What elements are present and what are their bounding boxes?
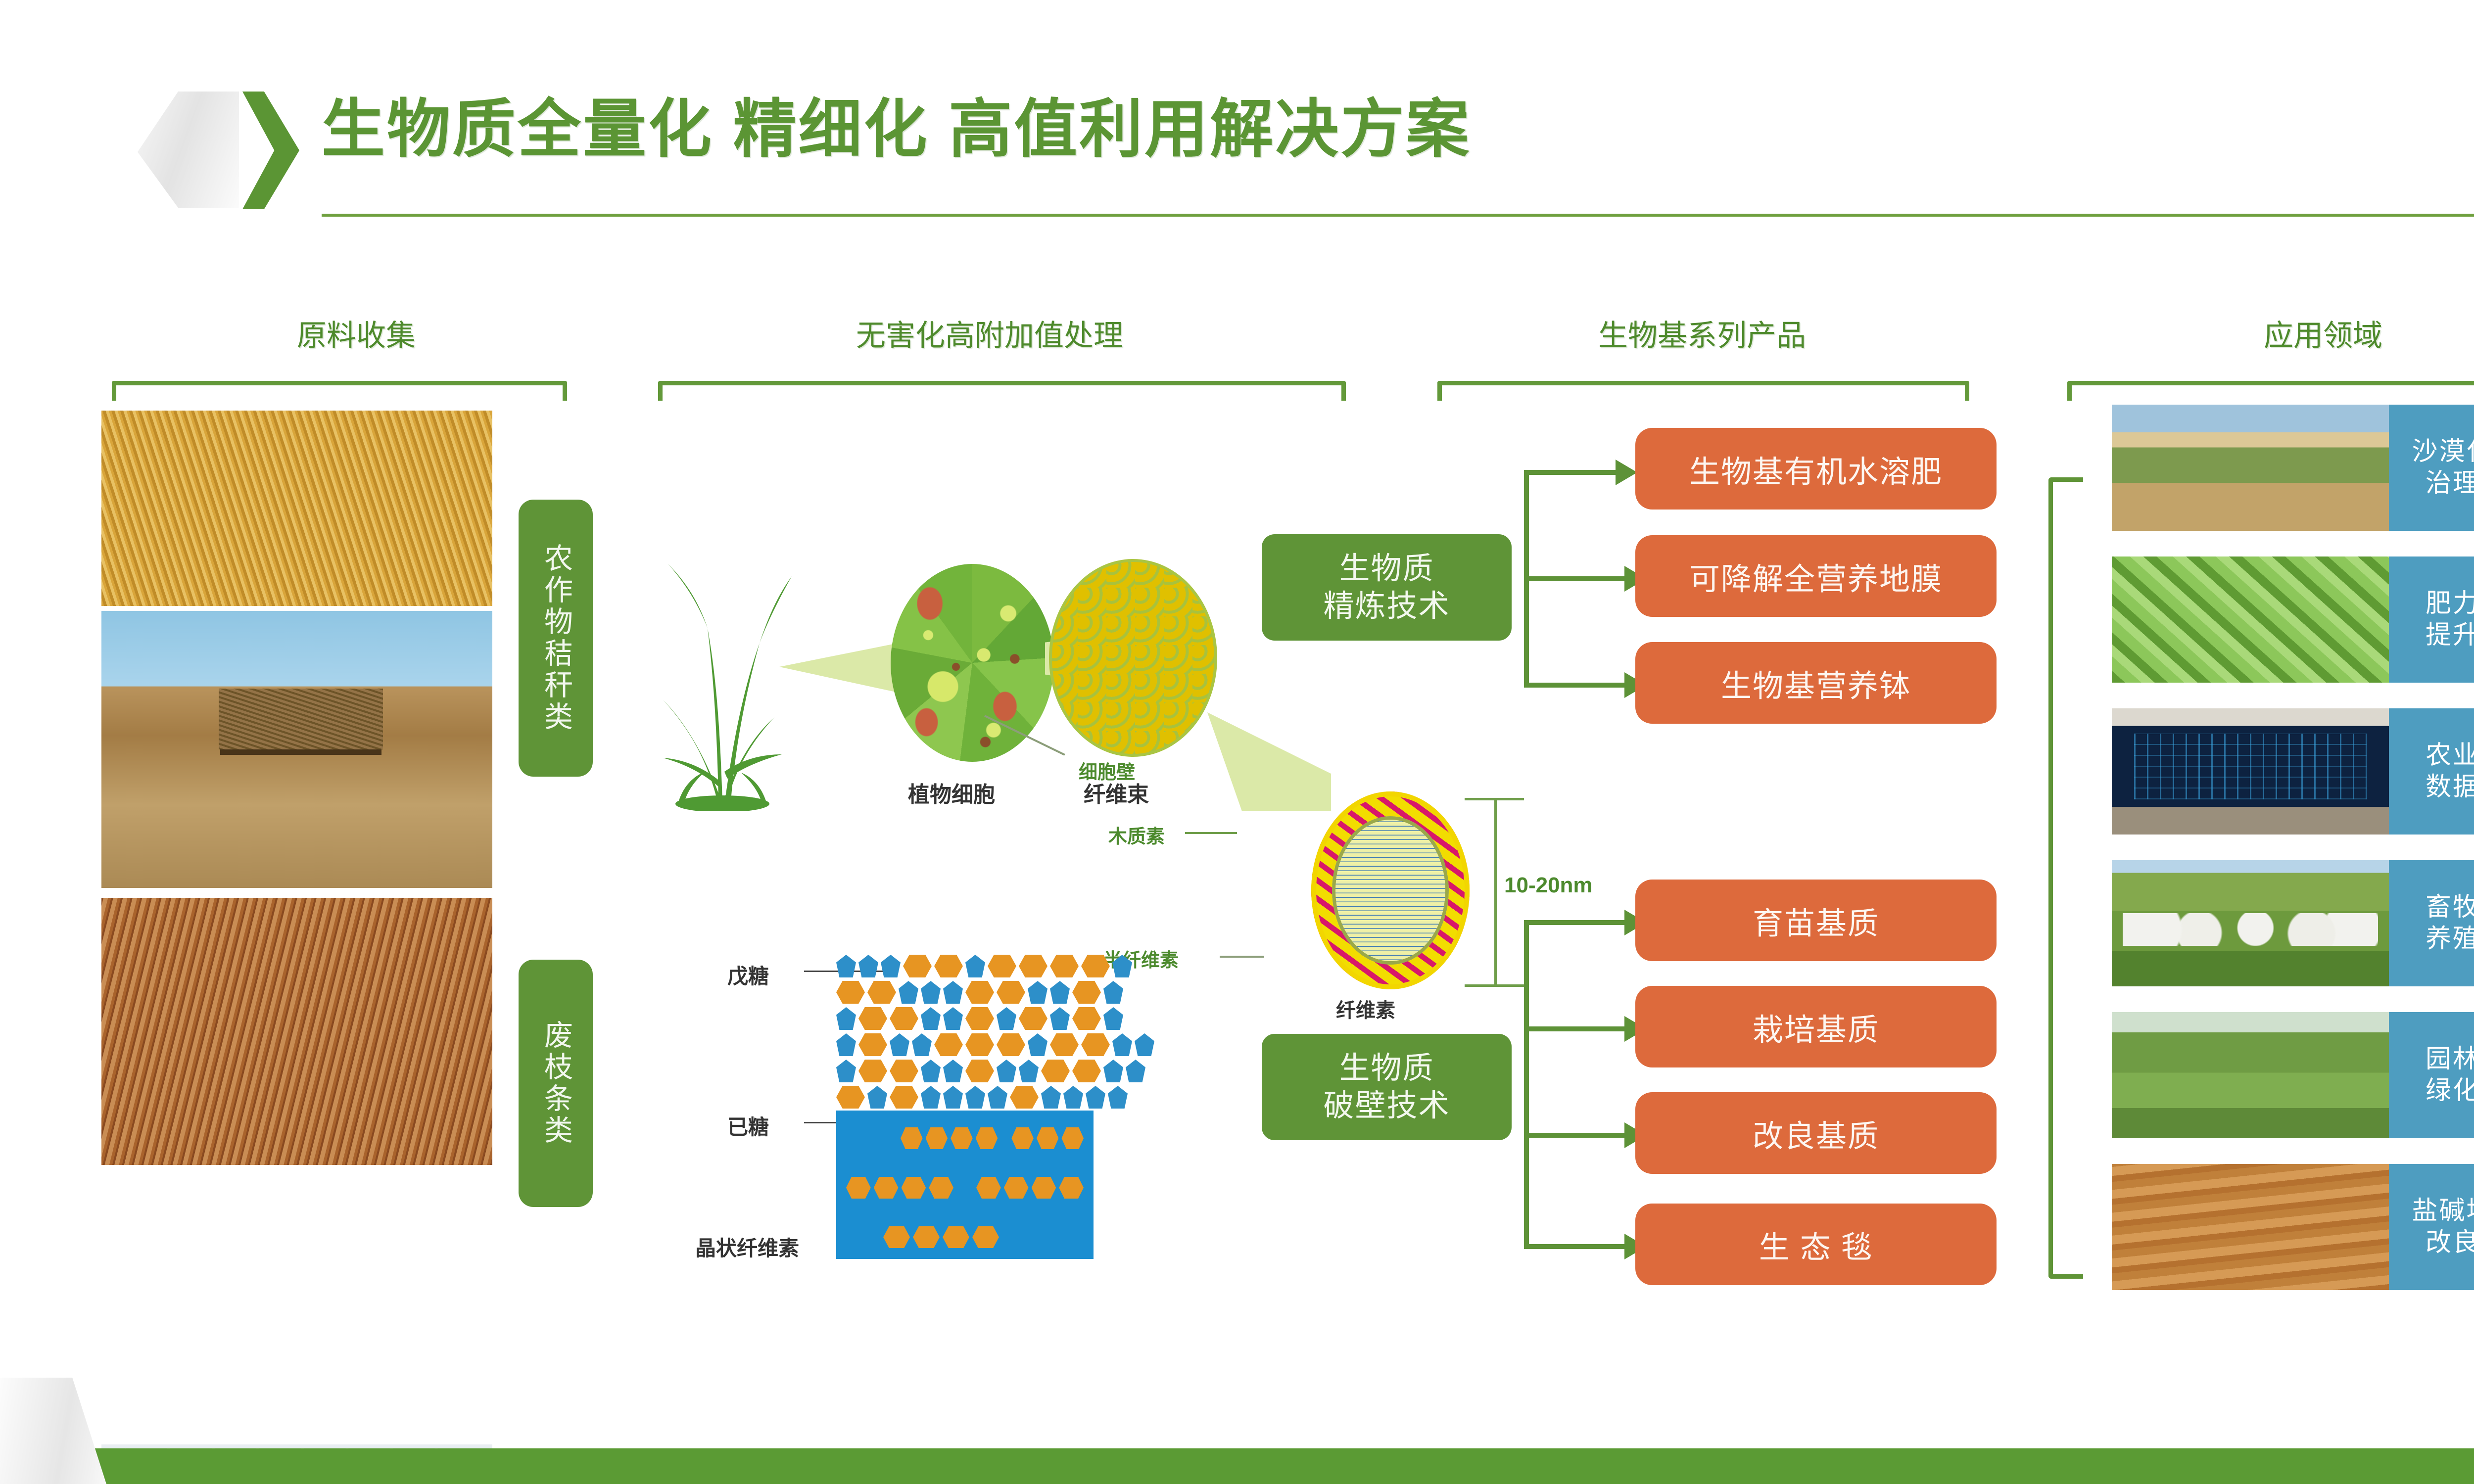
dim-line-vertical xyxy=(1494,798,1497,987)
app-label-1-line2: 提升 xyxy=(2426,620,2474,651)
app-label-0-line2: 治理 xyxy=(2426,468,2474,499)
title-divider xyxy=(322,214,2474,217)
tech-wall-line2: 破壁技术 xyxy=(1323,1087,1450,1125)
application-row-fertility[interactable]: 肥力 提升 xyxy=(2112,556,2474,683)
application-row-saline-land[interactable]: 盐碱地 改良 xyxy=(2112,1164,2474,1290)
cellulose-core xyxy=(1332,816,1449,965)
application-label-fertility: 肥力 提升 xyxy=(2389,556,2474,683)
zoom-beam-3 xyxy=(1207,712,1331,811)
footer-band xyxy=(79,1448,2474,1484)
app-label-1-line1: 肥力 xyxy=(2426,588,2474,619)
tech-wall-line1: 生物质 xyxy=(1339,1050,1434,1087)
lignin-leader-line xyxy=(1185,832,1237,834)
application-label-landscape: 园林 绿化 xyxy=(2389,1012,2474,1138)
label-cellulose: 纤维素 xyxy=(1336,994,1395,1023)
application-image-agri-data xyxy=(2112,708,2389,835)
application-label-saline-land: 盐碱地 改良 xyxy=(2389,1164,2474,1290)
material-group-waste-branches: 废枝条类 xyxy=(519,960,593,1207)
photo-straw-bale xyxy=(101,611,492,888)
plant-cell-illustration xyxy=(891,564,1054,762)
infographic-root: 生物质全量化 精细化 高值利用解决方案 原料收集 无害化高附加值处理 生物基系列… xyxy=(0,0,2474,1484)
section-header-processing: 无害化高附加值处理 xyxy=(643,312,1336,355)
product-seedling-substrate[interactable]: 育苗基质 xyxy=(1635,880,1997,961)
application-label-desertification: 沙漠化 治理 xyxy=(2389,405,2474,531)
app-label-5-line2: 改良 xyxy=(2426,1227,2474,1258)
photo-dry-branches xyxy=(101,898,492,1165)
tech-box-wall-breaking[interactable]: 生物质 破壁技术 xyxy=(1262,1034,1512,1140)
app-label-3-line2: 养殖 xyxy=(2426,924,2474,955)
label-pentose: 戊糖 xyxy=(727,960,769,990)
label-hexose: 已糖 xyxy=(727,1111,769,1141)
crystalline-cellulose-diagram xyxy=(836,1111,1094,1259)
bracket-applications xyxy=(2067,381,2474,401)
application-row-livestock[interactable]: 畜牧 养殖 xyxy=(2112,860,2474,986)
app-label-0-line1: 沙漠化 xyxy=(2412,436,2474,467)
sugar-chain-diagram xyxy=(836,955,1154,1112)
app-label-4-line2: 绿化 xyxy=(2426,1075,2474,1107)
app-label-4-line1: 园林 xyxy=(2426,1044,2474,1075)
application-image-saline-land xyxy=(2112,1164,2389,1290)
label-crystalline-cellulose: 晶状纤维素 xyxy=(695,1232,799,1262)
application-label-agri-data: 农业 数据 xyxy=(2389,708,2474,835)
application-row-desertification[interactable]: 沙漠化 治理 xyxy=(2112,405,2474,531)
hexagon-decor-icon xyxy=(138,92,239,208)
app-label-2-line1: 农业 xyxy=(2426,740,2474,771)
product-improvement-substrate[interactable]: 改良基质 xyxy=(1635,1092,1997,1174)
hemicellulose-leader-line xyxy=(1220,956,1264,958)
bracket-collection xyxy=(112,381,567,401)
section-header-products: 生物基系列产品 xyxy=(1435,312,1969,355)
application-image-fertility xyxy=(2112,556,2389,683)
plant-silhouette-icon xyxy=(648,554,797,811)
section-header-applications: 应用领域 xyxy=(2113,312,2474,355)
product-bio-water-soluble-fertilizer[interactable]: 生物基有机水溶肥 xyxy=(1635,428,1997,510)
app-label-5-line1: 盐碱地 xyxy=(2412,1196,2474,1227)
label-dimension: 10-20nm xyxy=(1504,873,1593,898)
tech-refining-line2: 精炼技术 xyxy=(1323,588,1450,625)
application-image-livestock xyxy=(2112,860,2389,986)
application-label-livestock: 畜牧 养殖 xyxy=(2389,860,2474,986)
product-bio-nutrition-pot[interactable]: 生物基营养钵 xyxy=(1635,642,1997,724)
label-plant-cell: 植物细胞 xyxy=(908,777,995,808)
bracket-applications-left xyxy=(2048,477,2083,1279)
application-row-agri-data[interactable]: 农业 数据 xyxy=(2112,708,2474,835)
bracket-products xyxy=(1437,381,1969,401)
application-row-landscape[interactable]: 园林 绿化 xyxy=(2112,1012,2474,1138)
section-header-collection: 原料收集 xyxy=(148,312,564,355)
page-title: 生物质全量化 精细化 高值利用解决方案 xyxy=(322,96,1471,163)
photo-corn-straw xyxy=(101,411,492,606)
application-image-landscape xyxy=(2112,1012,2389,1138)
bracket-processing xyxy=(658,381,1346,401)
app-label-3-line1: 畜牧 xyxy=(2426,892,2474,923)
app-label-2-line2: 数据 xyxy=(2426,772,2474,803)
zoom-beam-1 xyxy=(779,643,898,693)
application-image-desertification xyxy=(2112,405,2389,531)
product-ecological-blanket[interactable]: 生 态 毯 xyxy=(1635,1204,1997,1285)
fiber-bundle-illustration xyxy=(1049,559,1217,757)
label-lignin: 木质素 xyxy=(1108,821,1165,848)
tech-refining-line1: 生物质 xyxy=(1339,550,1434,588)
footer-wedge-decor xyxy=(0,1378,106,1484)
product-degradable-mulch-film[interactable]: 可降解全营养地膜 xyxy=(1635,535,1997,617)
tech-box-refining[interactable]: 生物质 精炼技术 xyxy=(1262,534,1512,641)
chevron-right-icon xyxy=(242,92,299,209)
material-group-crop-straw: 农作物秸秆类 xyxy=(519,500,593,777)
product-cultivation-substrate[interactable]: 栽培基质 xyxy=(1635,986,1997,1067)
label-fiber-bundle: 纤维束 xyxy=(1084,777,1149,808)
